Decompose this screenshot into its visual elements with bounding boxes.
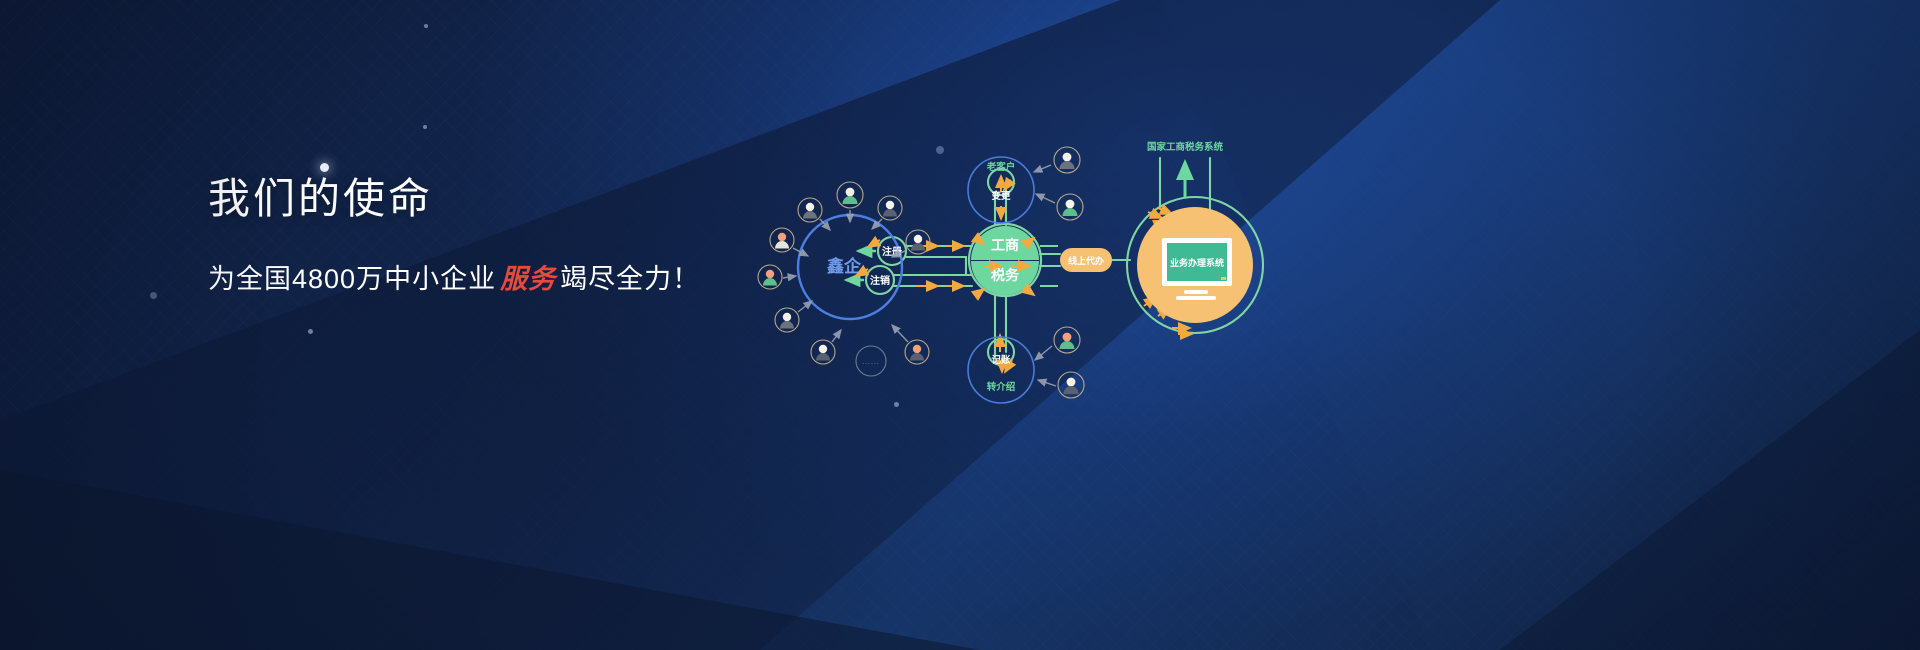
hero-banner: 我们的使命 为全国4800万中小企业服务竭尽全力！ (0, 0, 1920, 650)
background-vignette (0, 0, 1920, 650)
